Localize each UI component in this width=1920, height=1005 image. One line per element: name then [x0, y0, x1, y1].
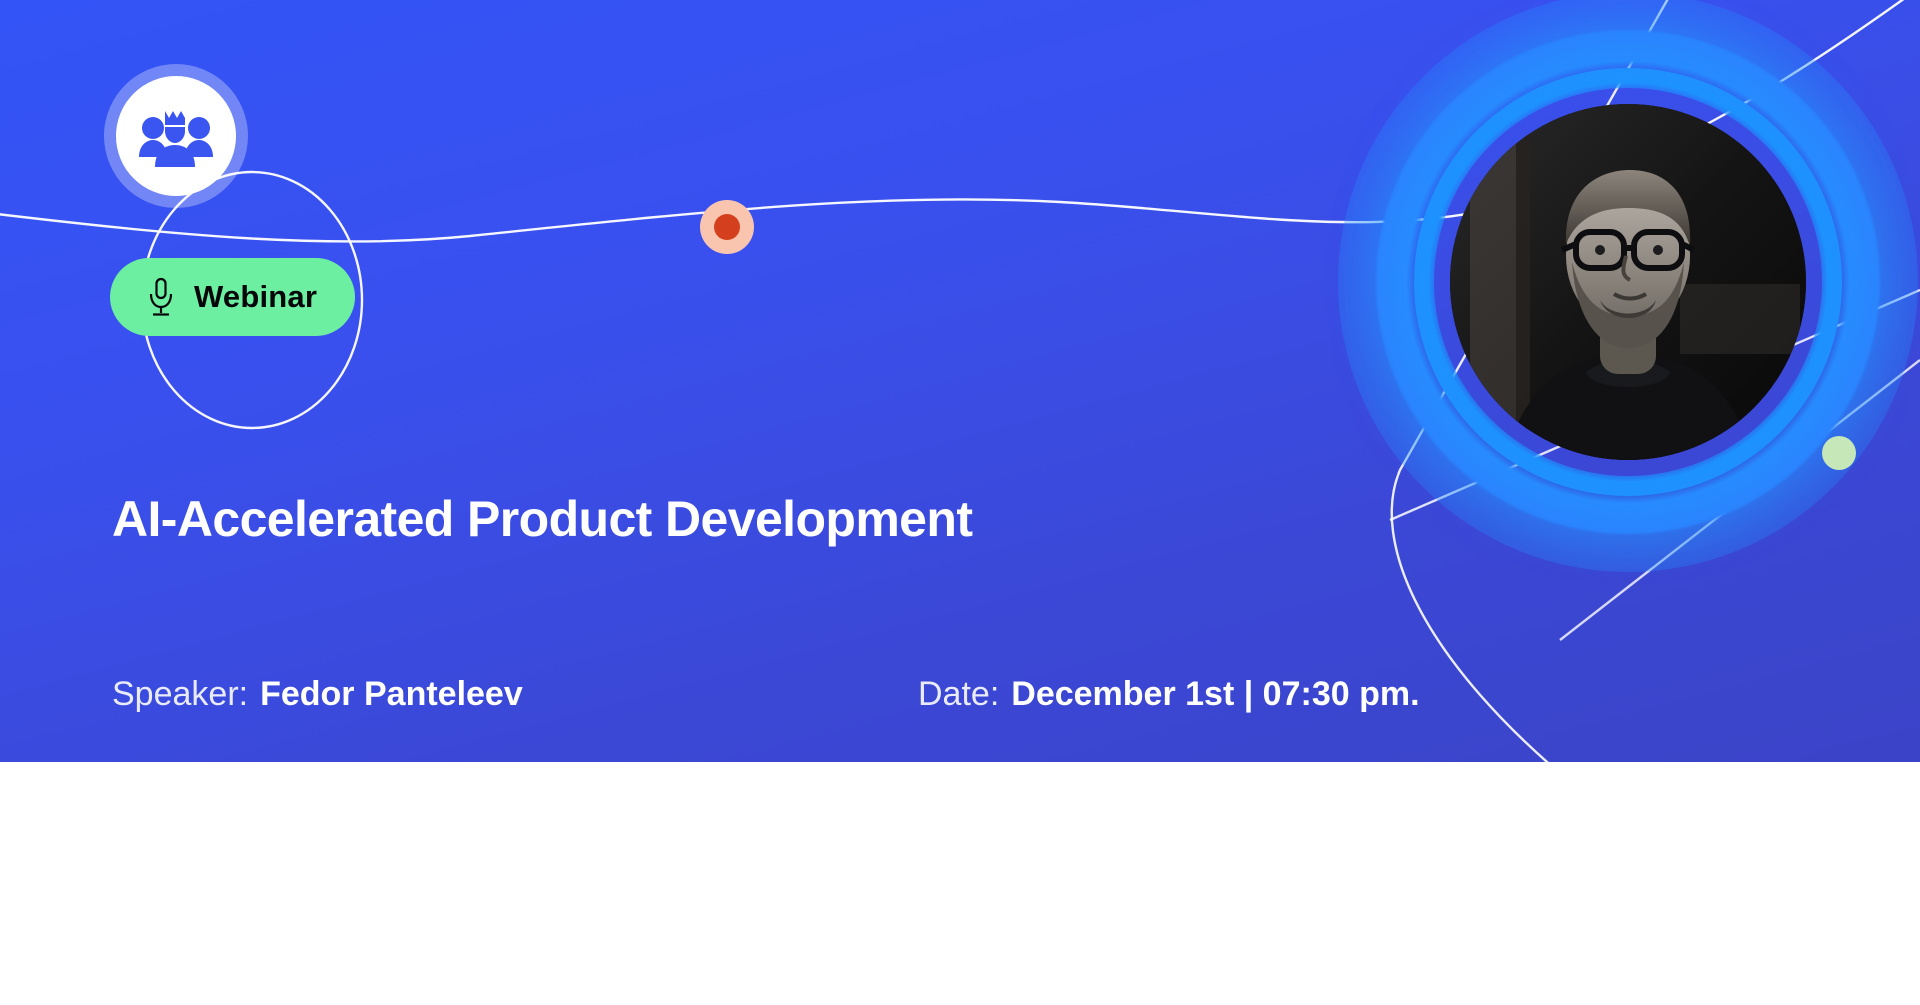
people-group-icon — [139, 105, 213, 167]
meta-row: Speaker: Fedor Panteleev Date: December … — [112, 675, 1512, 723]
hero-section: Webinar AI-Accelerated Product Developme… — [0, 0, 1920, 762]
orange-node-dot — [700, 200, 754, 254]
speaker-label: Speaker: — [112, 675, 248, 714]
footer-section: Partners: POS my ARTESIA by Denara Group — [0, 762, 1920, 1005]
portrait-illustration — [1450, 104, 1806, 460]
webinar-promo-poster: Webinar AI-Accelerated Product Developme… — [0, 0, 1920, 1005]
people-badge — [104, 64, 248, 208]
microphone-icon — [148, 277, 174, 317]
speaker-name: Fedor Panteleev — [260, 675, 523, 714]
webinar-badge[interactable]: Webinar — [110, 258, 355, 336]
people-badge-inner — [116, 76, 236, 196]
webinar-badge-label: Webinar — [194, 279, 317, 315]
date-info: Date: December 1st | 07:30 pm. — [918, 675, 1420, 714]
date-label: Date: — [918, 675, 999, 714]
speaker-portrait — [1450, 104, 1806, 460]
speaker-portrait-rings — [1338, 0, 1918, 572]
date-value: December 1st | 07:30 pm. — [1011, 675, 1419, 714]
page-title: AI-Accelerated Product Development — [112, 490, 972, 548]
mint-node-dot — [1822, 436, 1856, 470]
speaker-info: Speaker: Fedor Panteleev — [112, 675, 523, 714]
